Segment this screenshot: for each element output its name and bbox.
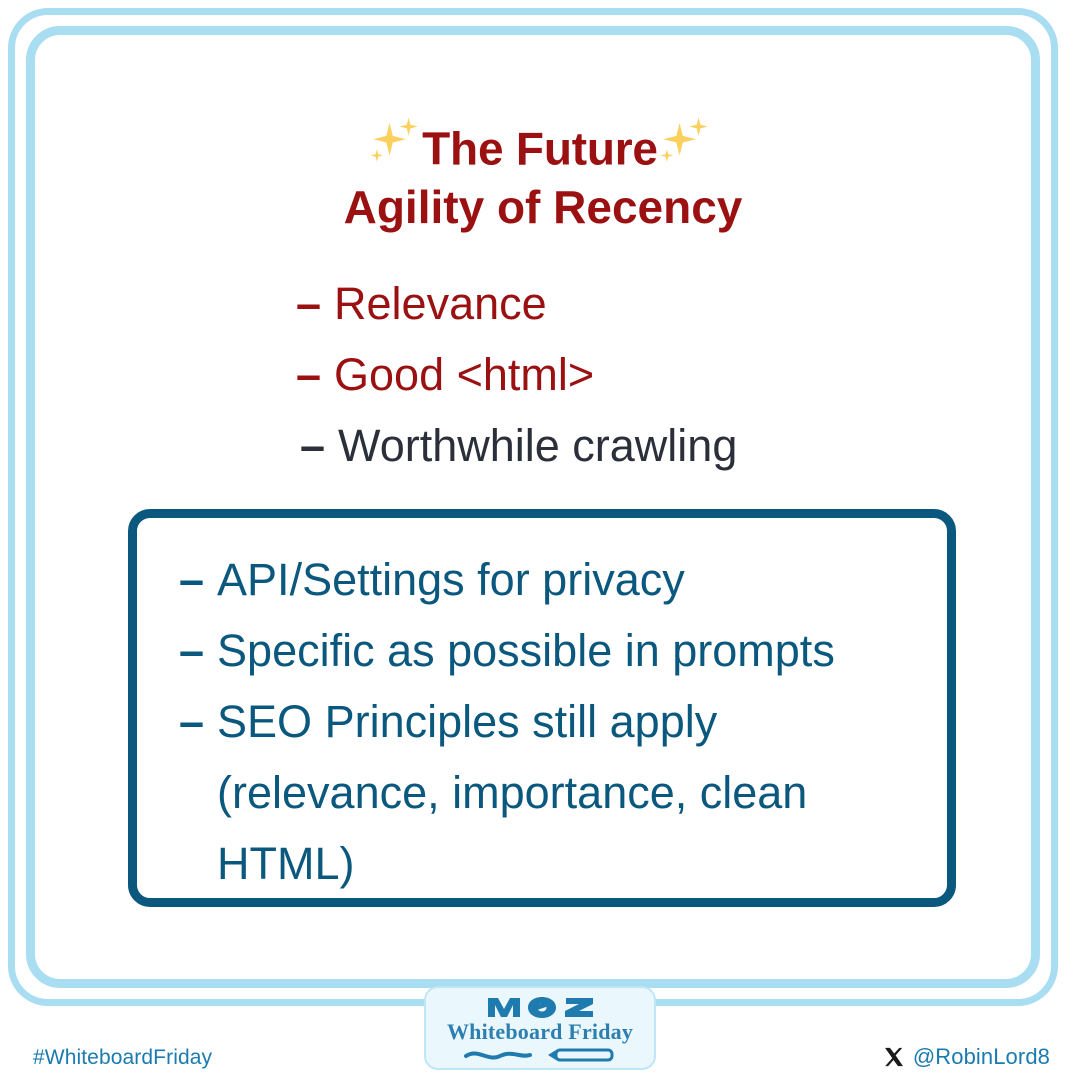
bullet-dash-icon: – bbox=[300, 410, 325, 481]
whiteboard-friday-slide: The Future Agility of Recency – Relevanc… bbox=[0, 0, 1080, 1080]
callout-box: – API/Settings for privacy – Specific as… bbox=[128, 509, 956, 907]
list-item-continuation: (relevance, importance, clean HTML) bbox=[217, 757, 939, 899]
list-item-label: Good <html> bbox=[334, 339, 594, 410]
title-block: The Future Agility of Recency bbox=[0, 112, 1080, 237]
list-item-label: API/Settings for privacy bbox=[217, 544, 685, 615]
list-item: – Good <html> bbox=[296, 339, 1016, 410]
bullet-dash-icon: – bbox=[179, 544, 204, 615]
slide-title-line-2: Agility of Recency bbox=[0, 178, 1080, 237]
slide-title-line-1: The Future bbox=[0, 112, 1080, 174]
list-item: – API/Settings for privacy bbox=[179, 544, 939, 615]
list-item-label: Relevance bbox=[334, 268, 547, 339]
list-item-label: Worthwhile crawling bbox=[338, 410, 737, 481]
moz-whiteboard-friday-logo: Whiteboard Friday bbox=[424, 986, 656, 1070]
list-item: – Relevance bbox=[296, 268, 1016, 339]
sparkles-icon-secondary bbox=[656, 112, 714, 170]
x-twitter-icon bbox=[883, 1046, 905, 1068]
list-item: – SEO Principles still apply (relevance,… bbox=[179, 686, 939, 899]
moz-wordmark-icon bbox=[426, 994, 654, 1020]
whiteboard-friday-label: Whiteboard Friday bbox=[426, 1020, 654, 1045]
list-item-label: Specific as possible in prompts bbox=[217, 615, 835, 686]
hashtag-label: #WhiteboardFriday bbox=[33, 1046, 212, 1070]
list-item: – Worthwhile crawling bbox=[300, 410, 1016, 481]
slide-title-text-1: The Future bbox=[422, 122, 658, 174]
bullet-dash-icon: – bbox=[296, 339, 321, 410]
social-handle: @RobinLord8 bbox=[883, 1044, 1050, 1070]
marker-squiggle-graphic bbox=[426, 1046, 654, 1064]
bullet-dash-icon: – bbox=[179, 686, 204, 757]
sparkles-icon bbox=[366, 112, 424, 170]
handle-label: @RobinLord8 bbox=[913, 1044, 1050, 1070]
list-item: – Specific as possible in prompts bbox=[179, 615, 939, 686]
bullet-dash-icon: – bbox=[179, 615, 204, 686]
callout-bullet-list: – API/Settings for privacy – Specific as… bbox=[179, 544, 939, 899]
list-item-label: SEO Principles still apply bbox=[217, 686, 939, 757]
list-item-body: SEO Principles still apply (relevance, i… bbox=[217, 686, 939, 899]
bullet-dash-icon: – bbox=[296, 268, 321, 339]
top-bullet-list: – Relevance – Good <html> – Worthwhile c… bbox=[296, 268, 1016, 481]
